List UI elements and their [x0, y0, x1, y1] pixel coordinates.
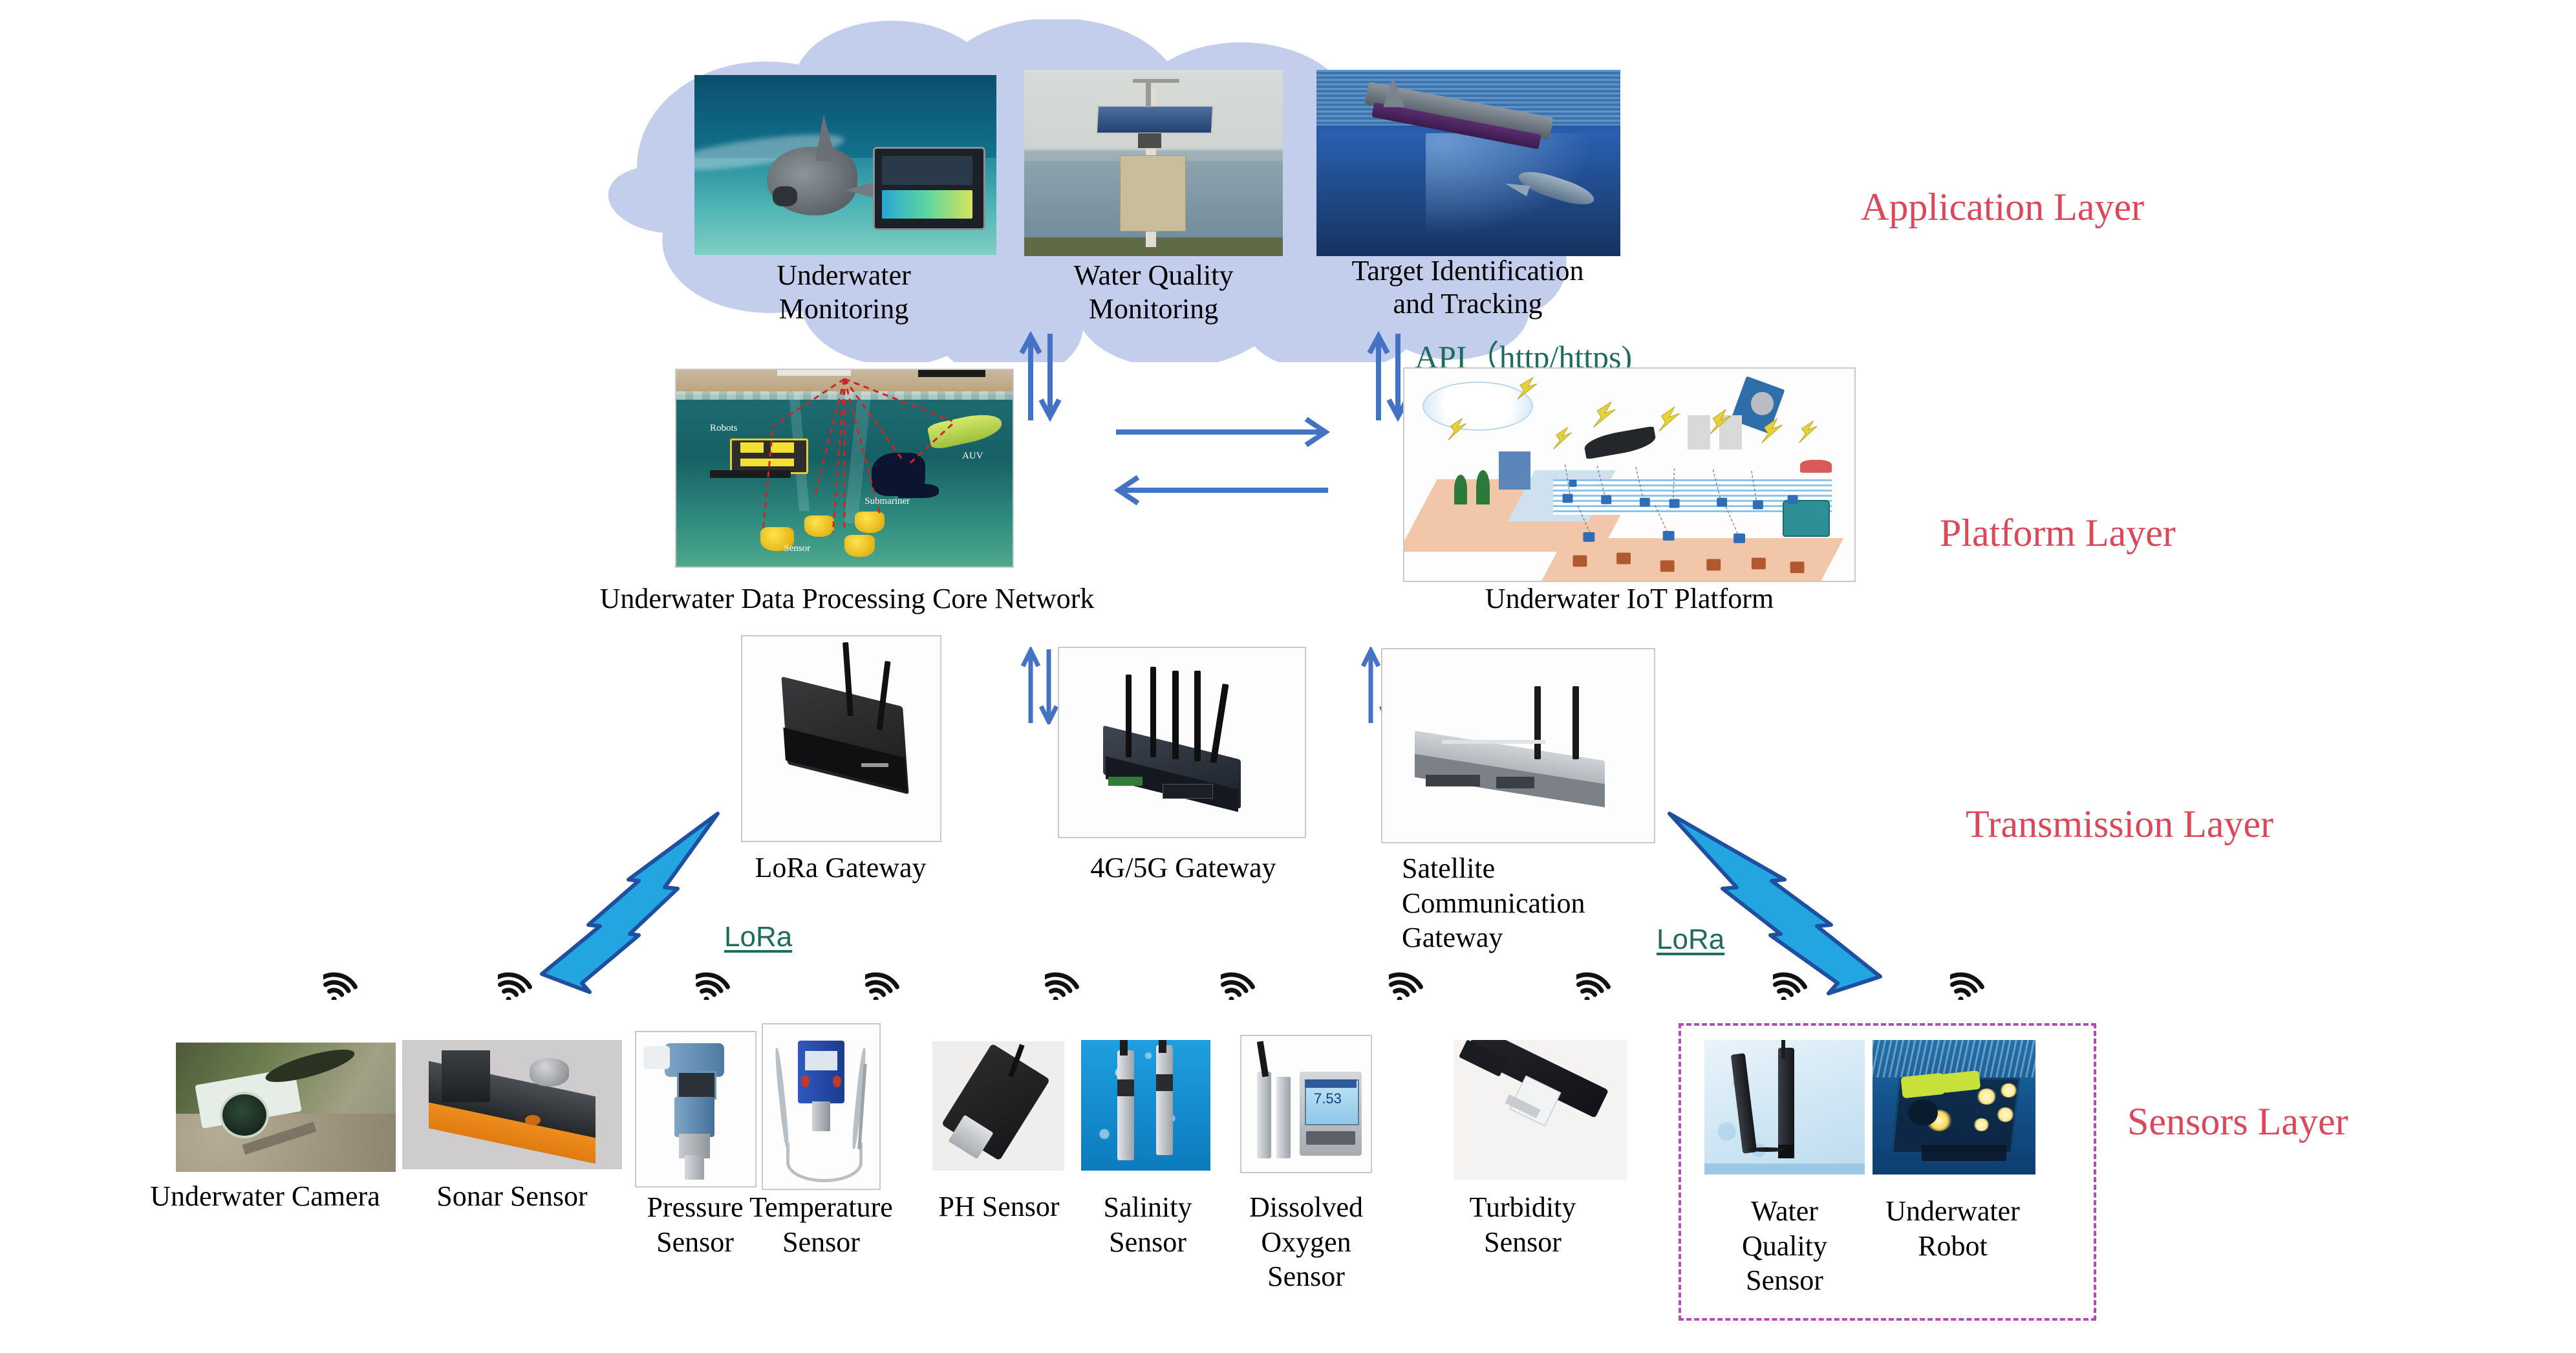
- app-caption-water-quality-monitoring: Water Quality Monitoring: [985, 259, 1322, 326]
- sensor-image-ph-sensor: [932, 1041, 1064, 1171]
- transmission-image-satellite-gateway: [1381, 648, 1655, 843]
- updown-arrow-lora-to-core: [1020, 647, 1059, 724]
- signal-icon: [1950, 964, 1990, 1000]
- core-label-sensor: Sensor: [784, 543, 810, 554]
- core-label-auv: AUV: [962, 451, 983, 462]
- sensor-image-dissolved-oxygen-sensor: 7.53: [1240, 1035, 1372, 1173]
- sensor-caption-sonar-sensor: Sonar Sensor: [402, 1180, 622, 1213]
- app-caption-underwater-monitoring: Underwater Monitoring: [672, 259, 1015, 326]
- transmission-image-4g5g-gateway: [1058, 647, 1306, 838]
- app-caption-target-identification: Target Identification and Tracking: [1306, 254, 1629, 321]
- sensor-caption-temperature-sensor: Temperature Sensor: [724, 1190, 918, 1259]
- sensor-image-sonar-sensor: [402, 1040, 622, 1169]
- bidirectional-arrow-core-to-iot: [1112, 414, 1332, 517]
- signal-icon: [1773, 964, 1813, 1000]
- sensor-image-water-quality-sensor: [1704, 1040, 1865, 1174]
- signal-icon: [1221, 964, 1261, 1000]
- sensor-image-salinity-sensor: [1081, 1040, 1210, 1171]
- signal-icon: [1045, 964, 1085, 1000]
- app-image-water-quality-monitoring: [1024, 70, 1283, 256]
- signal-icon: [1576, 964, 1616, 1000]
- sensor-image-temperature-sensor: [762, 1023, 881, 1190]
- transmission-caption-4g5g-gateway: 4G/5G Gateway: [1035, 851, 1332, 885]
- sensor-image-pressure-sensor: [635, 1031, 757, 1187]
- updown-arrow-app-to-core: [1018, 331, 1063, 422]
- platform-caption-core-network: Underwater Data Processing Core Network: [556, 582, 1138, 616]
- signal-icon: [323, 964, 363, 1000]
- platform-image-core-network: Robots AUV Submariner Sensor: [675, 369, 1014, 568]
- app-image-underwater-monitoring: [694, 75, 996, 255]
- signal-icon: [696, 964, 736, 1000]
- sensor-caption-underwater-camera: Underwater Camera: [129, 1180, 401, 1213]
- transmission-image-lora-gateway: [741, 635, 941, 842]
- sensor-image-underwater-robot: [1873, 1040, 2035, 1174]
- sensor-caption-dissolved-oxygen-sensor: Dissolved Oxygen Sensor: [1209, 1190, 1403, 1294]
- layer-title-sensors: Sensors Layer: [2127, 1099, 2348, 1144]
- signal-icon: [865, 964, 905, 1000]
- layer-title-platform: Platform Layer: [1940, 511, 2176, 556]
- dissolved-oxygen-reading: 7.53: [1314, 1090, 1342, 1107]
- sensor-caption-underwater-robot: Underwater Robot: [1849, 1194, 2056, 1263]
- core-label-robots: Robots: [710, 423, 738, 434]
- layer-title-application: Application Layer: [1861, 185, 2144, 230]
- sensor-caption-water-quality-sensor: Water Quality Sensor: [1694, 1194, 1875, 1298]
- core-label-submariner: Submariner: [864, 496, 910, 507]
- sensor-image-turbidity-sensor: [1454, 1040, 1627, 1180]
- app-image-target-identification: [1316, 70, 1620, 256]
- signal-icon: [498, 964, 538, 1000]
- sensor-caption-turbidity-sensor: Turbidity Sensor: [1429, 1190, 1616, 1259]
- sensor-image-underwater-camera: [176, 1043, 396, 1172]
- transmission-caption-satellite-gateway: Satellite Communication Gateway: [1402, 851, 1660, 955]
- layer-title-transmission: Transmission Layer: [1966, 802, 2273, 847]
- platform-caption-iot-platform: Underwater IoT Platform: [1377, 582, 1882, 616]
- signal-icon: [1389, 964, 1429, 1000]
- platform-image-iot-platform: [1403, 367, 1856, 582]
